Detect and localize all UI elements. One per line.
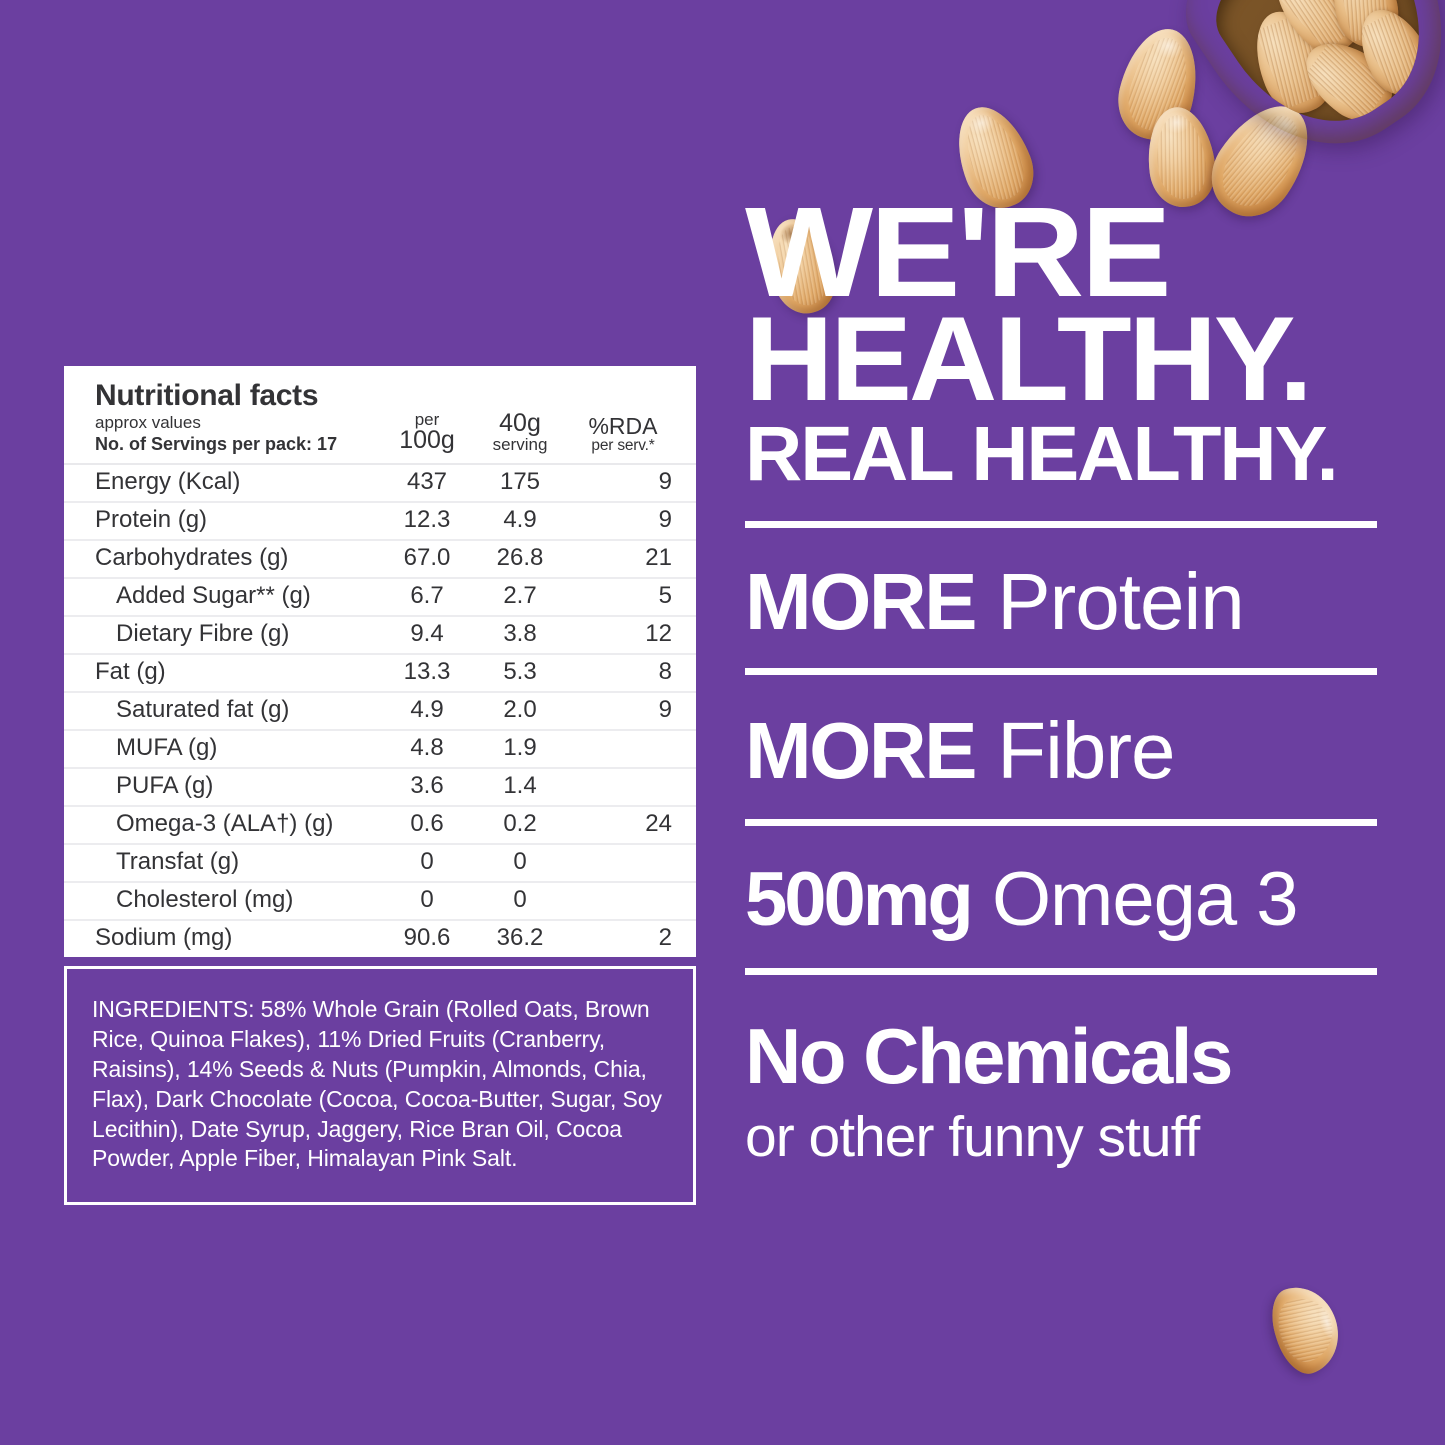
- table-row: Protein (g) 12.3 4.9 9: [64, 503, 696, 541]
- claims-panel: WE'RE HEALTHY. REAL HEALTHY. MORE Protei…: [745, 198, 1377, 1170]
- row-rda: 9: [574, 468, 672, 496]
- row-label: MUFA (g): [95, 734, 388, 762]
- row-per-100g: 13.3: [388, 658, 466, 686]
- divider: [745, 521, 1377, 528]
- row-label: Energy (Kcal): [95, 468, 388, 496]
- claim-more-fibre: MORE Fibre: [745, 711, 1377, 791]
- row-rda: 2: [574, 924, 672, 952]
- table-row: Cholesterol (mg) 0 0: [64, 883, 696, 921]
- row-serving: 0: [466, 848, 574, 876]
- row-serving: 1.9: [466, 734, 574, 762]
- nutrition-facts-table: Nutritional facts approx values No. of S…: [64, 366, 696, 957]
- row-label: Cholesterol (mg): [95, 886, 388, 914]
- row-serving: 36.2: [466, 924, 574, 952]
- claim-light-text: Protein: [997, 557, 1243, 646]
- divider: [745, 968, 1377, 975]
- row-serving: 5.3: [466, 658, 574, 686]
- claim-more-protein: MORE Protein: [745, 562, 1377, 642]
- row-label: Protein (g): [95, 506, 388, 534]
- claim-light-text: Omega 3: [992, 857, 1298, 942]
- column-header-40g-serving: 40g serving: [466, 411, 574, 455]
- table-row: Saturated fat (g) 4.9 2.0 9: [64, 693, 696, 731]
- row-serving: 2.0: [466, 696, 574, 724]
- claim-strong-text: 500mg: [745, 857, 971, 942]
- claim-no-chemicals: No Chemicals or other funny stuff: [745, 1011, 1377, 1170]
- table-header-titles: Nutritional facts approx values No. of S…: [95, 380, 388, 455]
- column-header-per-100g: per 100g: [388, 411, 466, 455]
- row-rda: 9: [574, 506, 672, 534]
- row-rda: 12: [574, 620, 672, 648]
- headline-line-3: REAL HEALTHY.: [745, 421, 1396, 487]
- row-per-100g: 437: [388, 468, 466, 496]
- row-per-100g: 6.7: [388, 582, 466, 610]
- row-per-100g: 9.4: [388, 620, 466, 648]
- row-label: Added Sugar** (g): [95, 582, 388, 610]
- table-row: Added Sugar** (g) 6.7 2.7 5: [64, 579, 696, 617]
- row-serving: 1.4: [466, 772, 574, 800]
- row-label: Carbohydrates (g): [95, 544, 388, 572]
- row-per-100g: 0: [388, 886, 466, 914]
- row-per-100g: 90.6: [388, 924, 466, 952]
- approx-values-label: approx values: [95, 413, 388, 434]
- claim-strong-text: MORE: [745, 557, 975, 646]
- row-rda: 8: [574, 658, 672, 686]
- row-serving: 0: [466, 886, 574, 914]
- row-label: PUFA (g): [95, 772, 388, 800]
- row-rda: 24: [574, 810, 672, 838]
- claim-strong-text: No Chemicals: [745, 1011, 1377, 1102]
- row-serving: 3.8: [466, 620, 574, 648]
- row-per-100g: 4.9: [388, 696, 466, 724]
- table-header: Nutritional facts approx values No. of S…: [64, 366, 696, 465]
- row-per-100g: 4.8: [388, 734, 466, 762]
- row-per-100g: 0: [388, 848, 466, 876]
- ingredients-text: INGREDIENTS: 58% Whole Grain (Rolled Oat…: [92, 995, 671, 1174]
- claim-light-text: Fibre: [997, 706, 1174, 795]
- headline: WE'RE HEALTHY. REAL HEALTHY.: [745, 198, 1377, 487]
- claim-light-text: or other funny stuff: [745, 1104, 1377, 1170]
- row-rda: 5: [574, 582, 672, 610]
- headline-line-2: HEALTHY.: [745, 308, 1390, 411]
- row-label: Sodium (mg): [95, 924, 388, 952]
- table-row: PUFA (g) 3.6 1.4: [64, 769, 696, 807]
- table-row: Transfat (g) 0 0: [64, 845, 696, 883]
- row-per-100g: 0.6: [388, 810, 466, 838]
- row-serving: 175: [466, 468, 574, 496]
- row-serving: 4.9: [466, 506, 574, 534]
- almond-icon: [1263, 1278, 1349, 1381]
- servings-per-pack-label: No. of Servings per pack: 17: [95, 434, 388, 456]
- column-header-rda: %RDA per serv.*: [574, 415, 672, 456]
- claim-omega-3: 500mg Omega 3: [745, 862, 1377, 938]
- row-per-100g: 67.0: [388, 544, 466, 572]
- row-serving: 26.8: [466, 544, 574, 572]
- row-serving: 0.2: [466, 810, 574, 838]
- table-row: Dietary Fibre (g) 9.4 3.8 12: [64, 617, 696, 655]
- row-serving: 2.7: [466, 582, 574, 610]
- table-row: Sodium (mg) 90.6 36.2 2: [64, 921, 696, 957]
- table-row: Carbohydrates (g) 67.0 26.8 21: [64, 541, 696, 579]
- row-rda: 21: [574, 544, 672, 572]
- row-label: Fat (g): [95, 658, 388, 686]
- row-label: Dietary Fibre (g): [95, 620, 388, 648]
- row-per-100g: 3.6: [388, 772, 466, 800]
- row-rda: 9: [574, 696, 672, 724]
- table-row: Fat (g) 13.3 5.3 8: [64, 655, 696, 693]
- table-row: MUFA (g) 4.8 1.9: [64, 731, 696, 769]
- claim-strong-text: MORE: [745, 706, 975, 795]
- page-title: Nutritional facts: [95, 380, 388, 412]
- row-label: Transfat (g): [95, 848, 388, 876]
- table-row: Energy (Kcal) 437 175 9: [64, 465, 696, 503]
- ingredients-panel: INGREDIENTS: 58% Whole Grain (Rolled Oat…: [64, 966, 696, 1205]
- row-label: Saturated fat (g): [95, 696, 388, 724]
- divider: [745, 668, 1377, 675]
- divider: [745, 819, 1377, 826]
- row-per-100g: 12.3: [388, 506, 466, 534]
- row-label: Omega-3 (ALA†) (g): [95, 810, 388, 838]
- table-row: Omega-3 (ALA†) (g) 0.6 0.2 24: [64, 807, 696, 845]
